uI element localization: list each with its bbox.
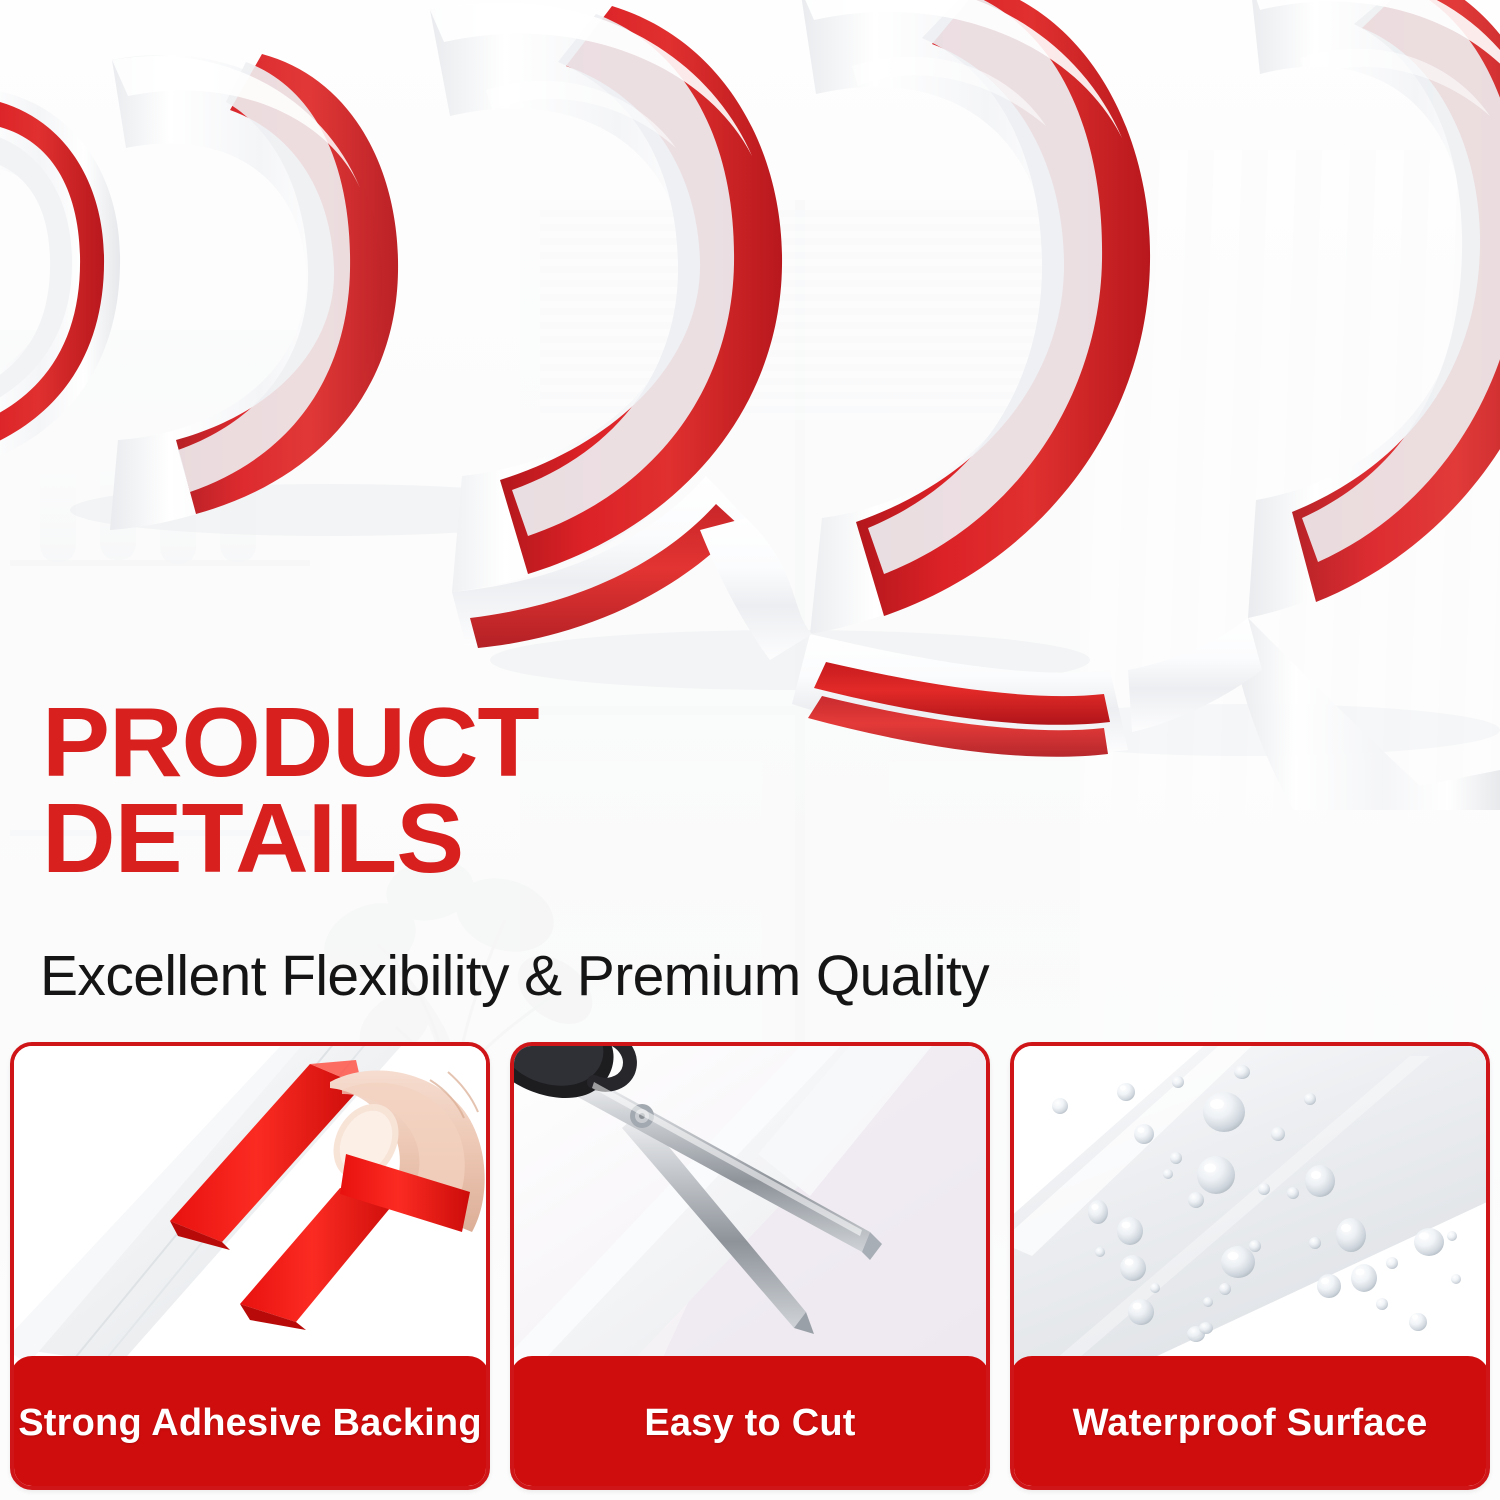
scissors-icon [514,1046,986,1364]
panel-caption-cut: Easy to Cut [510,1356,990,1490]
headline-line-2: DETAILS [42,790,791,886]
peel-icon [14,1046,486,1364]
panel-caption-waterproof: Waterproof Surface [1010,1356,1490,1490]
feature-panel-waterproof[interactable]: Waterproof Surface [1010,1042,1490,1490]
product-details-infographic: PRODUCT DETAILS Excellent Flexibility & … [0,0,1500,1500]
page-subtitle: Excellent Flexibility & Premium Quality [40,948,989,1005]
panel-caption-adhesive: Strong Adhesive Backing [10,1356,490,1490]
headline-line-1: PRODUCT [42,694,791,790]
feature-panel-adhesive[interactable]: Strong Adhesive Backing [10,1042,490,1490]
feature-panel-cut[interactable]: Easy to Cut [510,1042,990,1490]
page-title: PRODUCT DETAILS [42,694,762,886]
feature-panel-row: Strong Adhesive Backing [10,1042,1490,1490]
water-drop-icon [1014,1046,1486,1364]
